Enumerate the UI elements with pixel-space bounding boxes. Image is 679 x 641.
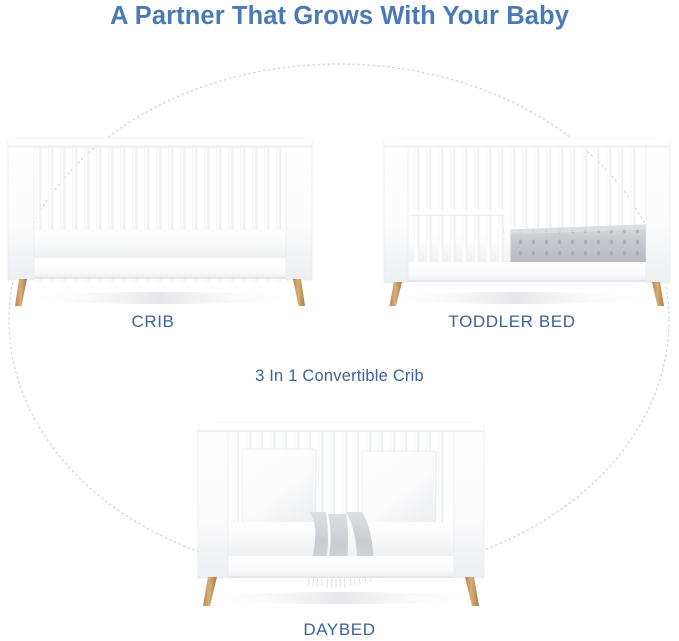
caption-daybed: DAYBED [0,620,679,640]
toddler-bed-icon [358,126,674,306]
page-title: A Partner That Grows With Your Baby [0,1,679,31]
crib-icon [4,126,316,306]
daybed-icon [176,408,506,606]
daybed-pillow-right [362,451,437,526]
crib-mattress [22,230,298,260]
center-product-label: 3 In 1 Convertible Crib [0,366,679,386]
toddler-bed-illustration [358,126,674,306]
daybed-pillow-left [242,449,317,524]
daybed-illustration [176,408,506,606]
infographic-stage: A Partner That Grows With Your Baby [0,0,679,641]
toddler-bed-mattress [498,224,656,266]
crib-illustration [4,126,316,306]
caption-crib: CRIB [0,312,306,332]
caption-toddler-bed: TODDLER BED [352,312,672,332]
